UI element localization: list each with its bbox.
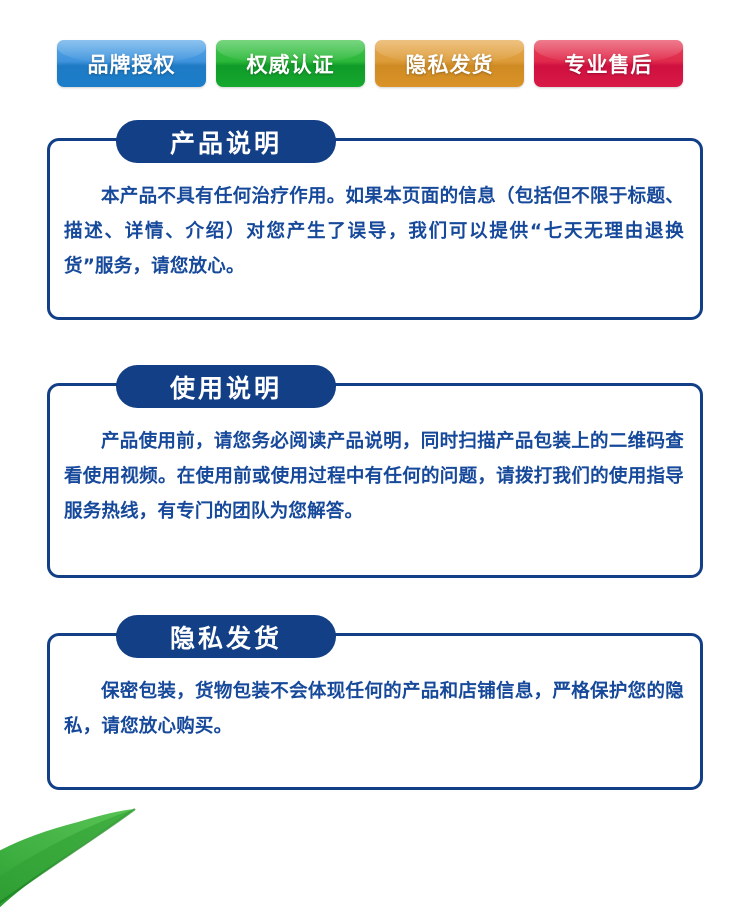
card-privacy-shipping: 隐私发货 保密包装，货物包装不会体现任何的产品和店铺信息，严格保护您的隐私，请您… — [47, 633, 703, 790]
leaf-icon — [0, 802, 230, 922]
card-product-description: 产品说明 本产品不具有任何治疗作用。如果本页面的信息（包括但不限于标题、描述、详… — [47, 138, 703, 320]
badge-label: 权威认证 — [247, 49, 335, 79]
badge-authority-certification: 权威认证 — [216, 40, 365, 87]
badge-label: 品牌授权 — [88, 49, 176, 79]
card-title: 使用说明 — [170, 369, 282, 405]
badge-professional-after-sales: 专业售后 — [534, 40, 683, 87]
badge-label: 隐私发货 — [406, 49, 494, 79]
card-header-product-description: 产品说明 — [116, 120, 336, 163]
badge-label: 专业售后 — [565, 49, 653, 79]
badge-brand-authorization: 品牌授权 — [57, 40, 206, 87]
card-header-usage-instructions: 使用说明 — [116, 365, 336, 408]
badge-row: 品牌授权 权威认证 隐私发货 专业售后 — [57, 40, 697, 87]
card-header-privacy-shipping: 隐私发货 — [116, 615, 336, 658]
card-title: 产品说明 — [170, 124, 282, 160]
card-usage-instructions: 使用说明 产品使用前，请您务必阅读产品说明，同时扫描产品包装上的二维码查看使用视… — [47, 383, 703, 578]
badge-private-shipping: 隐私发货 — [375, 40, 524, 87]
card-title: 隐私发货 — [170, 619, 282, 655]
